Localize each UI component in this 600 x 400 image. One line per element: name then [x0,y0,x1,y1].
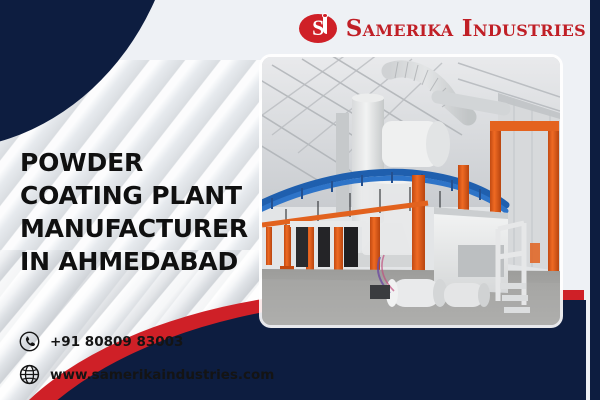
page-title: POWDER COATING PLANT MANUFACTURER IN AHM… [20,146,248,278]
logo-letter-s: S [299,13,337,42]
headline-line-4: IN AHMEDABAD [20,245,248,278]
headline-line-2: COATING PLANT [20,179,248,212]
brand-lockup: S Samerika Industries [299,14,586,43]
globe-icon [19,364,40,385]
phone-icon [19,331,40,352]
plant-photo-illustration [262,57,560,325]
logo-letter-j [323,17,327,34]
contact-website-label: www.samerikaindustries.com [50,367,274,383]
contact-phone[interactable]: +91 80809 83003 [19,331,274,352]
right-edge-navy-strip [590,0,600,400]
si-monogram-icon: S [299,14,337,43]
contact-website[interactable]: www.samerikaindustries.com [19,364,274,385]
contact-list: +91 80809 83003 www.samerikaindustries.c… [19,331,274,385]
headline-line-1: POWDER [20,146,248,179]
contact-phone-label: +91 80809 83003 [50,334,183,350]
brand-name: Samerika Industries [346,15,586,42]
headline-line-3: MANUFACTURER [20,212,248,245]
promotional-banner: S Samerika Industries POWDER COATING PLA… [0,0,600,400]
plant-photo [262,57,560,325]
logo-dot [322,13,328,18]
